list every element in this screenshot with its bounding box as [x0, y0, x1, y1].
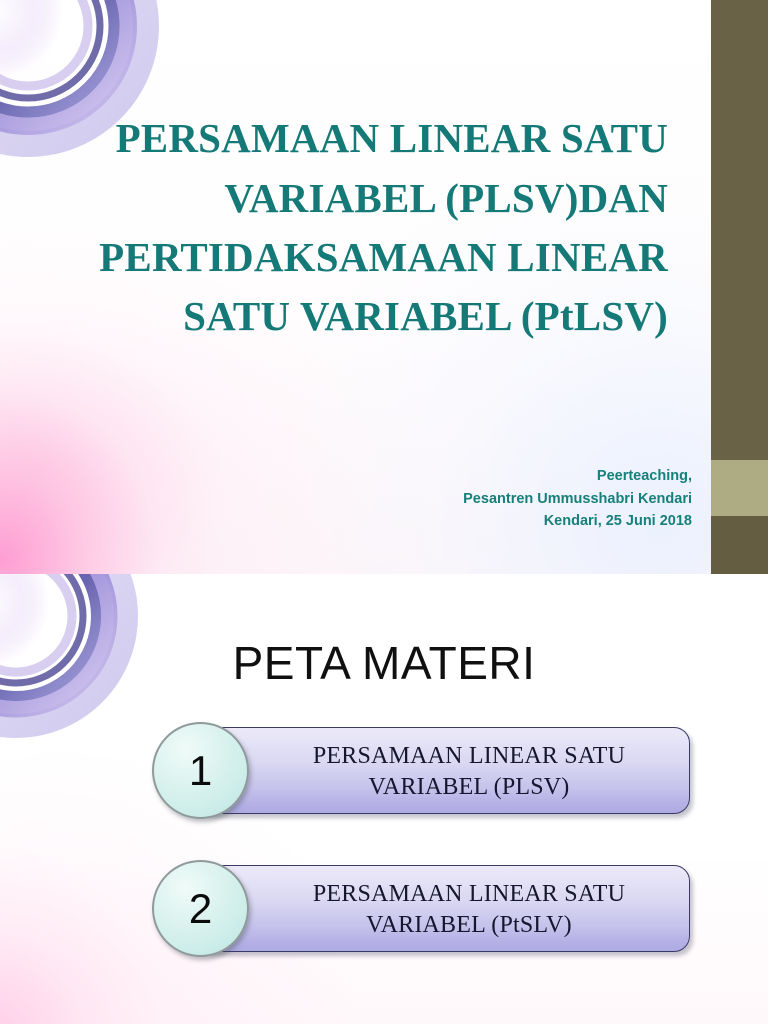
map-item-label-1: PERSAMAAN LINEAR SATU VARIABEL (PLSV): [259, 728, 679, 815]
slide-credits: Peerteaching, Pesantren Ummusshabri Kend…: [300, 465, 692, 533]
page-title: PETA MATERI: [0, 636, 768, 690]
credit-line-1: Peerteaching,: [300, 465, 692, 488]
list-item[interactable]: PERSAMAAN LINEAR SATU VARIABEL (PLSV) 1: [0, 722, 768, 818]
list-item[interactable]: PERSAMAAN LINEAR SATU VARIABEL (PtSLV) 2: [0, 860, 768, 956]
map-item-1-line2: VARIABEL (PLSV): [313, 772, 625, 802]
sidebar-accent-bar-bottom: [711, 516, 768, 574]
map-item-2-line1: PERSAMAAN LINEAR SATU: [313, 879, 625, 909]
sidebar-accent-bar-top: [711, 0, 768, 460]
map-item-box-2[interactable]: PERSAMAAN LINEAR SATU VARIABEL (PtSLV): [196, 865, 690, 952]
map-item-2-line2: VARIABEL (PtSLV): [313, 910, 625, 940]
map-item-number-2: 2: [189, 888, 212, 930]
map-item-number-badge-2[interactable]: 2: [152, 860, 249, 957]
slide-title: PERSAMAAN LINEAR SATU VARIABEL (PLSV)DAN…: [0, 0, 768, 574]
map-item-label-2: PERSAMAAN LINEAR SATU VARIABEL (PtSLV): [259, 866, 679, 953]
map-item-number-badge-1[interactable]: 1: [152, 722, 249, 819]
map-item-number-1: 1: [189, 750, 212, 792]
map-item-box-1[interactable]: PERSAMAAN LINEAR SATU VARIABEL (PLSV): [196, 727, 690, 814]
presentation-deck: PERSAMAAN LINEAR SATU VARIABEL (PLSV)DAN…: [0, 0, 768, 1024]
sidebar-accent-bar-khaki: [711, 460, 768, 516]
credit-line-3: Kendari, 25 Juni 2018: [300, 510, 692, 533]
map-item-1-line1: PERSAMAAN LINEAR SATU: [313, 741, 625, 771]
credit-line-2: Pesantren Ummusshabri Kendari: [300, 488, 692, 511]
slide-title-text: PERSAMAAN LINEAR SATU VARIABEL (PLSV)DAN…: [58, 109, 668, 345]
